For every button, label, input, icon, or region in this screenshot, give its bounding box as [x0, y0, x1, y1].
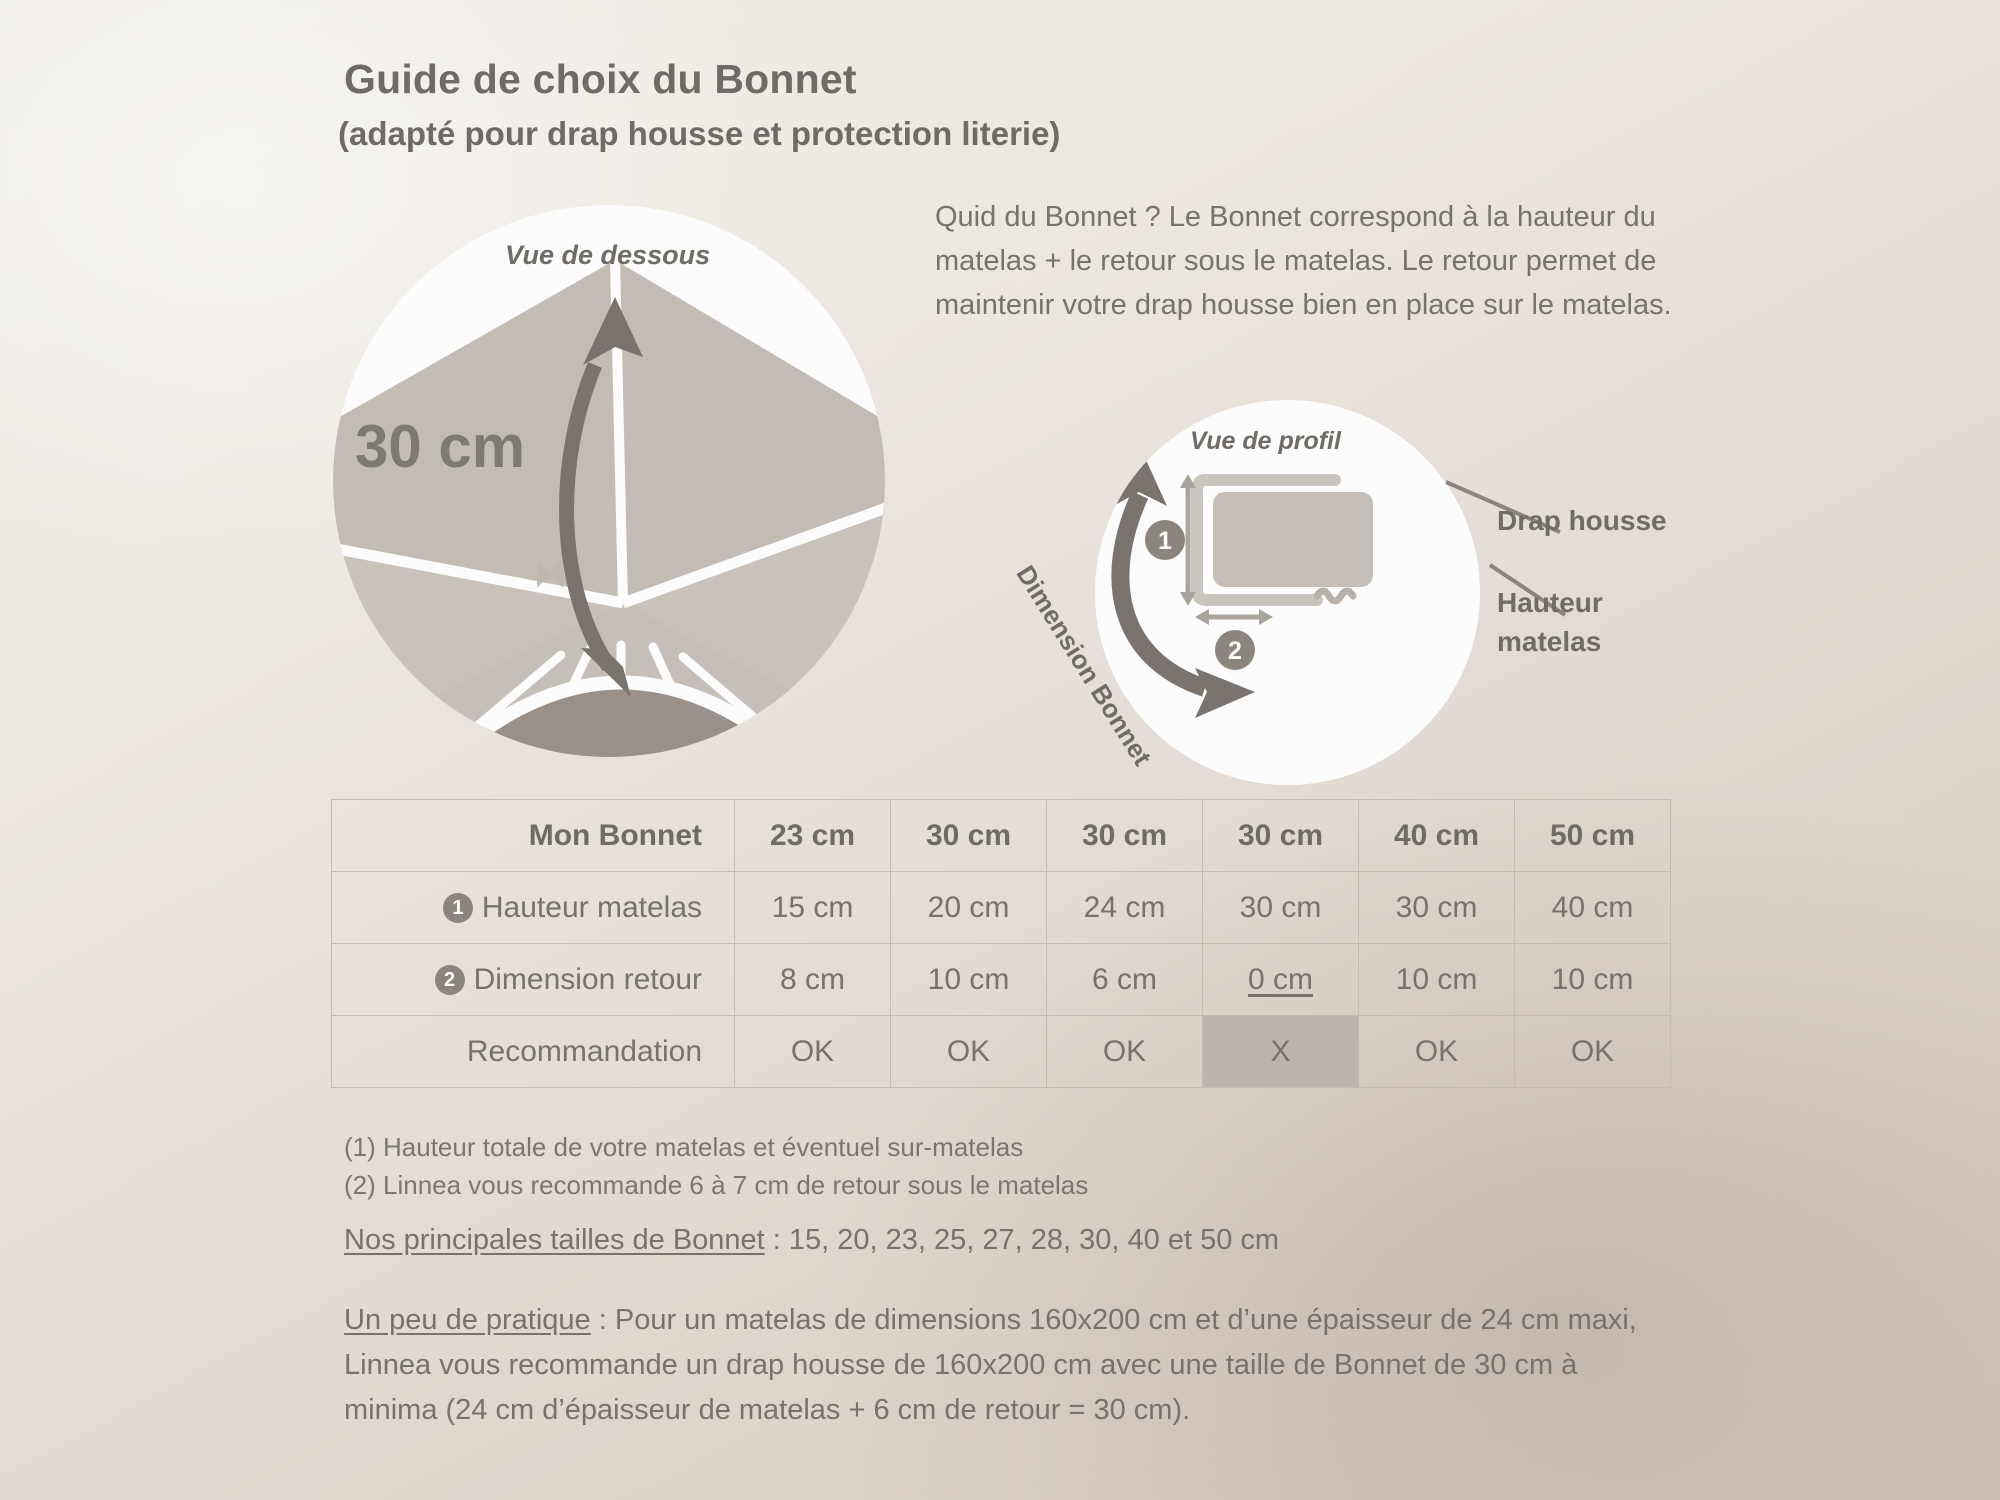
cell: 15 cm	[735, 872, 891, 944]
practical-label: Un peu de pratique	[344, 1304, 591, 1336]
callout-leader-lines	[1380, 460, 1700, 700]
row-label-cell: 1Hauteur matelas	[332, 872, 735, 944]
page-title: Guide de choix du Bonnet	[344, 56, 857, 103]
footnotes: (1) Hauteur totale de votre matelas et é…	[344, 1128, 1088, 1204]
cell: OK	[1515, 1016, 1671, 1088]
cell: 10 cm	[891, 944, 1047, 1016]
callout-drap-housse: Drap housse	[1497, 505, 1667, 537]
cell: 6 cm	[1047, 944, 1203, 1016]
cell: 10 cm	[1359, 944, 1515, 1016]
sizes-line: Nos principales tailles de Bonnet : 15, …	[344, 1224, 1279, 1257]
cell: 0 cm	[1203, 944, 1359, 1016]
intro-paragraph: Quid du Bonnet ? Le Bonnet correspond à …	[935, 195, 1695, 327]
cell: 20 cm	[891, 872, 1047, 944]
cell: OK	[1047, 1016, 1203, 1088]
cell: 10 cm	[1515, 944, 1671, 1016]
cell: 40 cm	[1359, 800, 1515, 872]
cell: OK	[891, 1016, 1047, 1088]
row-label: Mon Bonnet	[529, 819, 702, 853]
cell: 40 cm	[1515, 872, 1671, 944]
bonnet-size-table: Mon Bonnet 23 cm 30 cm 30 cm 30 cm 40 cm…	[331, 799, 1671, 1088]
table-row: 2Dimension retour 8 cm 10 cm 6 cm 0 cm 1…	[332, 944, 1671, 1016]
cell: 30 cm	[1359, 872, 1515, 944]
svg-text:2: 2	[1228, 637, 1242, 665]
cell: 30 cm	[1203, 800, 1359, 872]
cell: 30 cm	[891, 800, 1047, 872]
callout-hauteur-matelas: Hauteur matelas	[1497, 583, 1603, 661]
svg-text:1: 1	[1158, 527, 1172, 555]
row-label-cell: Recommandation	[332, 1016, 735, 1088]
row-label: Dimension retour	[474, 963, 702, 996]
cell: OK	[1359, 1016, 1515, 1088]
row-label: Hauteur matelas	[482, 891, 702, 924]
cell: 23 cm	[735, 800, 891, 872]
cell: 50 cm	[1515, 800, 1671, 872]
cell: 8 cm	[735, 944, 891, 1016]
page-subtitle: (adapté pour drap housse et protection l…	[338, 115, 1060, 153]
badge-2-icon: 2	[435, 965, 465, 995]
profile-view-label: Vue de profil	[1190, 427, 1341, 456]
bottom-view-diagram	[333, 205, 885, 757]
cell: 30 cm	[1203, 872, 1359, 944]
practical-paragraph: Un peu de pratique : Pour un matelas de …	[344, 1298, 1664, 1433]
cell: 30 cm	[1047, 800, 1203, 872]
infographic-page: Guide de choix du Bonnet (adapté pour dr…	[0, 0, 2000, 1500]
bonnet-measure-label: 30 cm	[355, 412, 525, 481]
table-row: 1Hauteur matelas 15 cm 20 cm 24 cm 30 cm…	[332, 872, 1671, 944]
row-label-cell: Mon Bonnet	[332, 800, 735, 872]
sizes-label: Nos principales tailles de Bonnet	[344, 1224, 765, 1256]
sizes-values: : 15, 20, 23, 25, 27, 28, 30, 40 et 50 c…	[765, 1224, 1279, 1256]
cell: 24 cm	[1047, 872, 1203, 944]
cell-value-emphasis: 0 cm	[1248, 963, 1313, 996]
row-label: Recommandation	[467, 1035, 702, 1069]
cell-highlighted: X	[1203, 1016, 1359, 1088]
bottom-view-label: Vue de dessous	[505, 240, 710, 271]
badge-1-icon: 1	[443, 893, 473, 923]
row-label-cell: 2Dimension retour	[332, 944, 735, 1016]
cell: OK	[735, 1016, 891, 1088]
table-row: Mon Bonnet 23 cm 30 cm 30 cm 30 cm 40 cm…	[332, 800, 1671, 872]
bottom-view-illustration	[333, 205, 885, 757]
table-row: Recommandation OK OK OK X OK OK	[332, 1016, 1671, 1088]
